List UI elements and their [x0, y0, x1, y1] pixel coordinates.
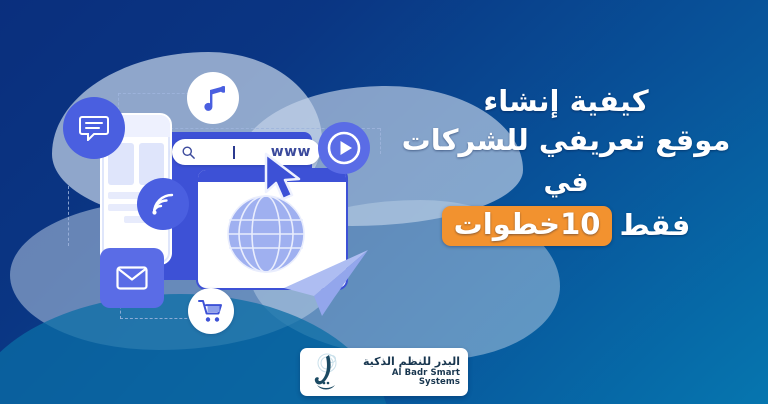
brand-logo: البدر للنظم الذكية Al Badr Smart Systems [300, 348, 468, 396]
brand-name-arabic: البدر للنظم الذكية [348, 356, 460, 369]
headline-tail-text: فقط [619, 208, 690, 243]
brand-name-english: Al Badr Smart Systems [348, 369, 460, 389]
brand-calligraphy-icon [308, 352, 342, 392]
search-icon[interactable] [181, 145, 196, 160]
poster-canvas: www [0, 0, 768, 404]
headline-block: كيفية إنشاء موقع تعريفي للشركات في فقط 1… [390, 84, 742, 246]
shopping-cart-icon [188, 288, 234, 334]
brand-logo-text: البدر للنظم الذكية Al Badr Smart Systems [348, 356, 460, 388]
wifi-icon [137, 178, 189, 230]
headline-line-2: موقع تعريفي للشركات [390, 123, 742, 158]
music-note-icon [187, 72, 239, 124]
headline-line-4: فقط 10خطوات [390, 206, 742, 246]
cursor-arrow-icon [262, 152, 306, 204]
headline-line-1: كيفية إنشاء [390, 84, 742, 119]
headline-line-3: في [390, 167, 742, 200]
text-caret [233, 146, 235, 159]
steps-count-badge: 10خطوات [442, 206, 613, 246]
chat-bubble-icon [63, 97, 125, 159]
paper-plane-icon [278, 248, 370, 318]
envelope-icon [100, 248, 164, 308]
play-button-icon [318, 122, 370, 174]
